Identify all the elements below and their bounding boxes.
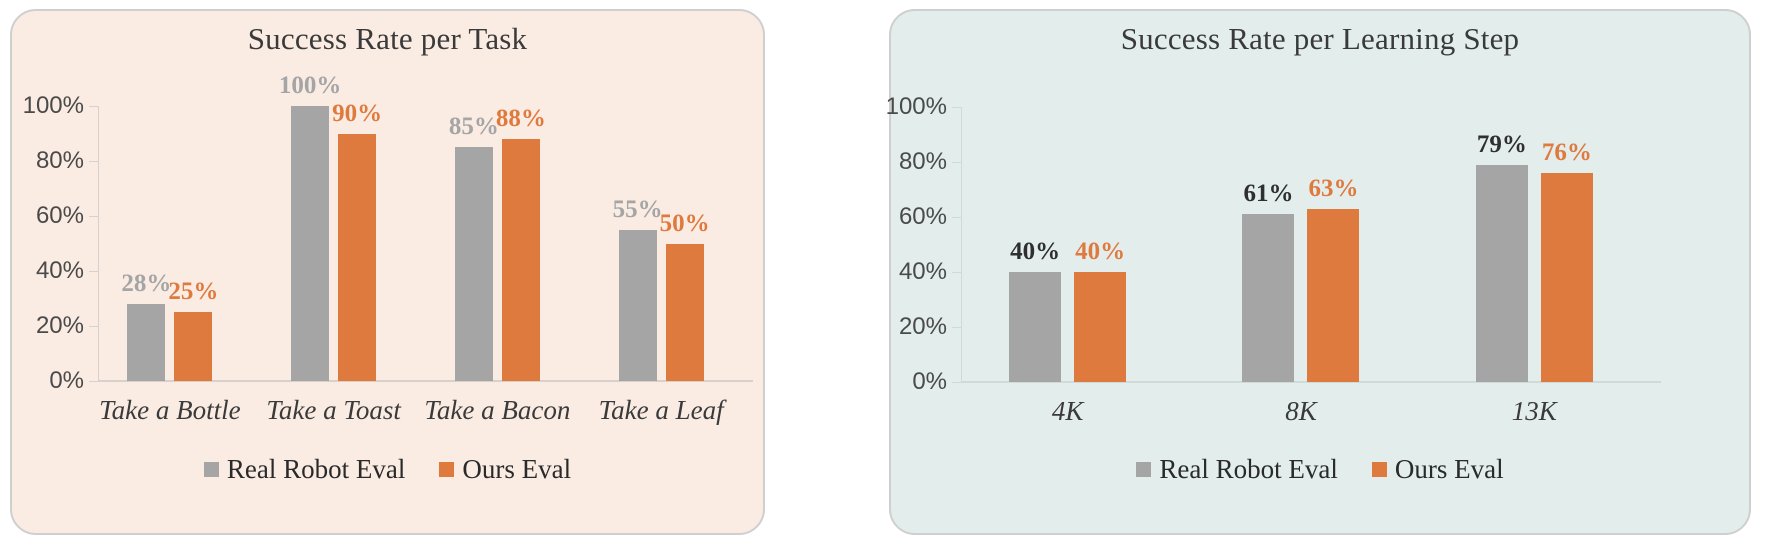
- y-axis-tick-label: 60%: [36, 202, 84, 230]
- bar-value-label: 90%: [332, 100, 382, 128]
- bar-value-label: 40%: [1075, 238, 1125, 266]
- bar-real-robot-eval: 85%: [455, 147, 493, 381]
- legend-item-real-robot-eval: Real Robot Eval: [1136, 454, 1337, 485]
- y-axis-tick: [89, 381, 98, 382]
- chart-title-left: Success Rate per Task: [12, 21, 763, 57]
- bar-ours-eval: 76%: [1541, 173, 1593, 382]
- y-axis-tick-label: 100%: [23, 92, 84, 120]
- chart-panel-success-rate-per-learning-step: Success Rate per Learning Step 100%80%60…: [889, 9, 1751, 535]
- bar-ours-eval: 50%: [666, 244, 704, 382]
- y-axis-tick-label: 60%: [899, 203, 947, 231]
- x-axis-category-label: Take a Leaf: [599, 395, 724, 426]
- plot-area-left: 100%80%60%40%20%0%28%25%Take a Bottle100…: [98, 106, 753, 381]
- bar-ours-eval: 25%: [174, 312, 212, 381]
- bar-group: 55%50%Take a Leaf: [589, 106, 753, 381]
- x-axis-category-label: Take a Bottle: [99, 395, 241, 426]
- bar-group: 40%40%4K: [961, 107, 1194, 382]
- bar-group: 61%63%8K: [1194, 107, 1427, 382]
- bar-value-label: 55%: [613, 196, 663, 224]
- legend-item-ours-eval: Ours Eval: [439, 454, 571, 485]
- bar-group: 79%76%13K: [1428, 107, 1661, 382]
- figure-root: Success Rate per Task 100%80%60%40%20%0%…: [0, 0, 1774, 550]
- y-axis-tick-label: 100%: [886, 93, 947, 121]
- bar-value-label: 40%: [1010, 238, 1060, 266]
- bar-real-robot-eval: 100%: [291, 106, 329, 381]
- y-axis-tick: [952, 382, 961, 383]
- plot-area-right: 100%80%60%40%20%0%40%40%4K61%63%8K79%76%…: [961, 107, 1661, 382]
- bar-group: 100%90%Take a Toast: [262, 106, 426, 381]
- bar-value-label: 61%: [1243, 180, 1293, 208]
- y-axis-tick: [89, 216, 98, 217]
- bar-value-label: 25%: [168, 278, 218, 306]
- x-axis-category-label: Take a Bacon: [424, 395, 570, 426]
- y-axis-tick-label: 40%: [36, 257, 84, 285]
- bar-value-label: 88%: [496, 105, 546, 133]
- bar-ours-eval: 63%: [1307, 209, 1359, 382]
- legend-label-real: Real Robot Eval: [1159, 454, 1337, 485]
- legend-item-ours-eval: Ours Eval: [1372, 454, 1504, 485]
- bar-ours-eval: 90%: [338, 134, 376, 382]
- y-axis-tick: [89, 161, 98, 162]
- bar-value-label: 85%: [449, 113, 499, 141]
- legend-swatch-icon-real: [1136, 462, 1151, 477]
- bar-value-label: 100%: [279, 72, 342, 100]
- bar-value-label: 63%: [1308, 175, 1358, 203]
- y-axis-tick: [952, 327, 961, 328]
- x-axis-category-label: 13K: [1512, 396, 1557, 427]
- bar-real-robot-eval: 55%: [619, 230, 657, 381]
- legend-right: Real Robot Eval Ours Eval: [891, 454, 1749, 485]
- bar-real-robot-eval: 79%: [1476, 165, 1528, 382]
- bar-value-label: 28%: [121, 270, 171, 298]
- legend-label-real: Real Robot Eval: [227, 454, 405, 485]
- bar-real-robot-eval: 40%: [1009, 272, 1061, 382]
- bar-ours-eval: 40%: [1074, 272, 1126, 382]
- legend-swatch-icon-ours: [439, 462, 454, 477]
- bar-real-robot-eval: 28%: [127, 304, 165, 381]
- y-axis-tick: [952, 217, 961, 218]
- y-axis-tick-label: 20%: [36, 312, 84, 340]
- x-axis-category-label: Take a Toast: [266, 395, 401, 426]
- y-axis-tick: [952, 272, 961, 273]
- bar-value-label: 79%: [1477, 131, 1527, 159]
- y-axis-tick: [89, 106, 98, 107]
- bar-real-robot-eval: 61%: [1242, 214, 1294, 382]
- x-axis-category-label: 4K: [1052, 396, 1084, 427]
- legend-item-real-robot-eval: Real Robot Eval: [204, 454, 405, 485]
- legend-swatch-icon-real: [204, 462, 219, 477]
- legend-swatch-icon-ours: [1372, 462, 1387, 477]
- x-axis-category-label: 8K: [1285, 396, 1317, 427]
- y-axis-tick: [952, 107, 961, 108]
- bar-value-label: 50%: [660, 210, 710, 238]
- bar-ours-eval: 88%: [502, 139, 540, 381]
- y-axis-tick: [89, 271, 98, 272]
- legend-label-ours: Ours Eval: [1395, 454, 1504, 485]
- bar-group: 28%25%Take a Bottle: [98, 106, 262, 381]
- y-axis-tick: [89, 326, 98, 327]
- y-axis-tick: [952, 162, 961, 163]
- y-axis-tick-label: 0%: [49, 367, 84, 395]
- legend-label-ours: Ours Eval: [462, 454, 571, 485]
- y-axis-tick-label: 20%: [899, 313, 947, 341]
- y-axis-tick-label: 80%: [36, 147, 84, 175]
- bar-group: 85%88%Take a Bacon: [426, 106, 590, 381]
- legend-left: Real Robot Eval Ours Eval: [12, 454, 763, 485]
- chart-title-right: Success Rate per Learning Step: [891, 21, 1749, 57]
- y-axis-tick-label: 0%: [912, 368, 947, 396]
- y-axis-tick-label: 80%: [899, 148, 947, 176]
- y-axis-tick-label: 40%: [899, 258, 947, 286]
- chart-panel-success-rate-per-task: Success Rate per Task 100%80%60%40%20%0%…: [10, 9, 765, 535]
- bar-value-label: 76%: [1542, 139, 1592, 167]
